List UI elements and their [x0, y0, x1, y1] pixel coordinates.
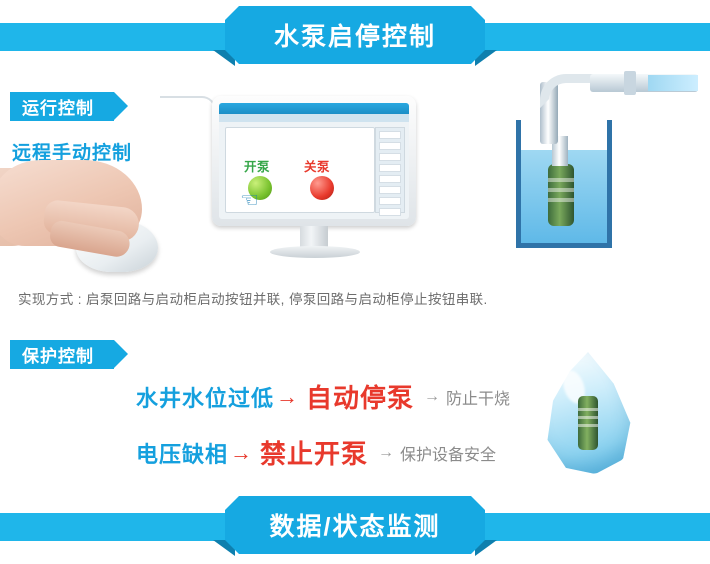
screen-start-pump-label: 开泵 — [244, 156, 270, 175]
tag-protect-control: 保护控制 — [10, 340, 114, 369]
monitor-bezel: 开泵 关泵 ☜ — [212, 96, 416, 226]
monitor-screen: 开泵 关泵 ☜ — [219, 103, 409, 219]
tag-protect-control-label: 保护控制 — [22, 342, 94, 367]
screen-stop-pump-label: 关泵 — [304, 156, 330, 175]
banner-bottom-bar-left — [0, 513, 240, 541]
protection-rule-row: 电压缺相 → 禁止开泵 → 保护设备安全 — [136, 434, 496, 471]
implementation-note: 实现方式 : 启泵回路与启动柜启动按钮并联, 停泵回路与启动柜停止按钮串联. — [18, 288, 488, 308]
pump-band — [578, 424, 598, 427]
well-pump-illustration — [498, 66, 698, 252]
banner-bottom-bar-right — [470, 513, 710, 541]
rule-action: 禁止开泵 — [260, 434, 368, 471]
tag-run-control-label: 运行控制 — [22, 94, 94, 119]
infographic-page: 水泵启停控制 运行控制 远程手动控制 保护控制 开泵 关泵 — [0, 0, 710, 564]
banner-bottom-ribbon: 数据/状态监测 — [225, 496, 485, 554]
screen-side-item — [379, 208, 401, 216]
screen-side-item — [379, 186, 401, 194]
screen-side-item — [379, 175, 401, 183]
pump-band — [578, 416, 598, 419]
rule-action: 自动停泵 — [306, 378, 414, 415]
well-pipe-coupling — [624, 71, 636, 95]
pump-band — [548, 188, 574, 192]
protection-rule-row: 水井水位过低 → 自动停泵 → 防止干烧 — [136, 378, 510, 415]
banner-top-bar-right — [470, 23, 710, 51]
banner-bottom: 数据/状态监测 — [0, 496, 710, 558]
submersible-pump-icon — [578, 396, 598, 450]
screen-side-item — [379, 197, 401, 205]
arrow-right-icon: → — [230, 440, 252, 466]
screen-side-item — [379, 131, 401, 139]
pump-band — [548, 198, 574, 202]
hand-illustration — [0, 160, 202, 270]
banner-top-ribbon: 水泵启停控制 — [225, 6, 485, 64]
hand-pointer-icon: ☜ — [240, 190, 262, 214]
screen-side-panel — [375, 127, 405, 213]
monitor-illustration: 开泵 关泵 ☜ — [212, 96, 416, 262]
screen-side-item — [379, 153, 401, 161]
banner-bottom-title: 数据/状态监测 — [270, 507, 441, 543]
arrow-right-small-icon: → — [378, 444, 394, 462]
arrow-right-small-icon: → — [424, 388, 440, 406]
tag-run-control: 运行控制 — [10, 92, 114, 121]
rule-condition: 水井水位过低 — [136, 381, 274, 413]
water-drop-illustration — [534, 352, 644, 484]
screen-stop-pump-button[interactable] — [310, 176, 334, 200]
banner-top: 水泵启停控制 — [0, 6, 710, 68]
banner-top-title: 水泵启停控制 — [274, 17, 436, 53]
pump-band — [578, 408, 598, 411]
screen-content-panel: 开泵 关泵 ☜ — [225, 127, 375, 213]
monitor-stand-base — [270, 246, 360, 258]
screen-topbar — [219, 103, 409, 114]
water-stream — [648, 75, 698, 91]
monitor-stand-neck — [300, 226, 328, 248]
screen-tabrow — [219, 114, 409, 122]
rule-condition: 电压缺相 — [136, 437, 228, 469]
banner-top-bar-left — [0, 23, 240, 51]
arrow-right-icon: → — [276, 384, 298, 410]
screen-side-item — [379, 142, 401, 150]
mouse-cable — [160, 96, 216, 118]
rule-reason: 防止干烧 — [446, 385, 510, 409]
screen-side-item — [379, 164, 401, 172]
rule-reason: 保护设备安全 — [400, 441, 496, 465]
submersible-pump-icon — [548, 164, 574, 226]
pump-band — [548, 178, 574, 182]
